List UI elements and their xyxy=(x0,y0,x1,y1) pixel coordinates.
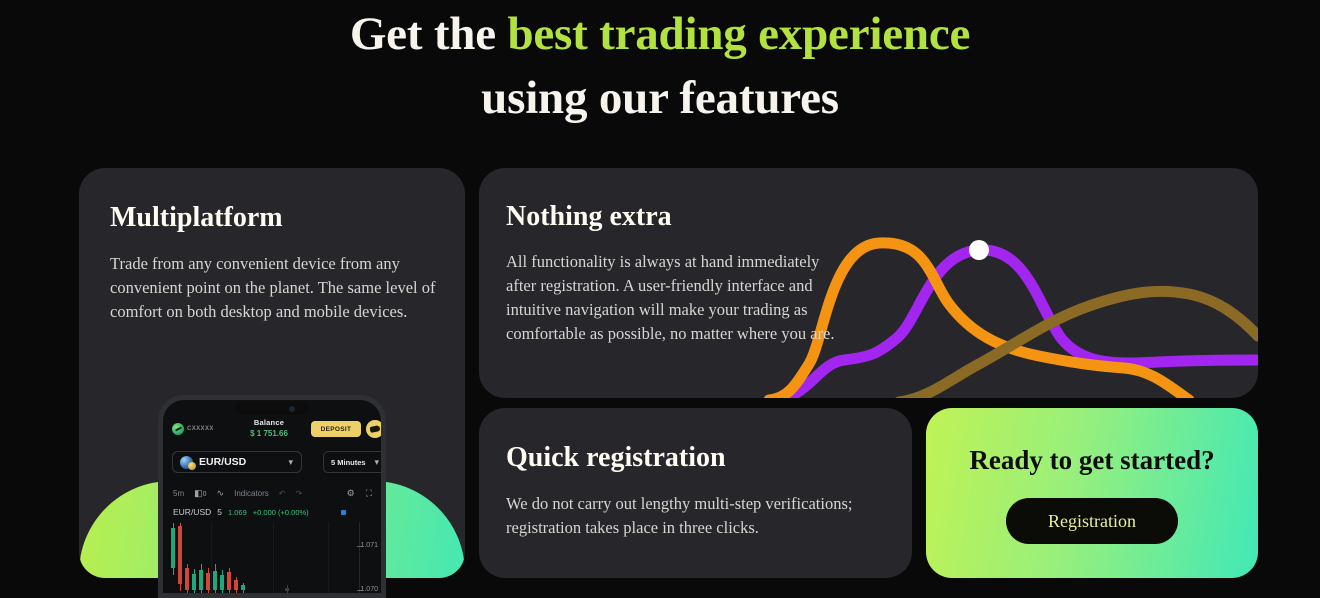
grid-line xyxy=(273,522,274,594)
broker-logo: CXXXXX xyxy=(172,423,214,435)
timeframe-value: 5 Minutes xyxy=(331,458,366,467)
redo-icon[interactable]: ↷ xyxy=(295,489,302,498)
undo-icon[interactable]: ↶ xyxy=(279,489,286,498)
pair-select-value: EUR/USD xyxy=(199,456,246,468)
balance-value: $ 1 751.66 xyxy=(233,429,305,438)
candle xyxy=(213,571,217,590)
curve-purple xyxy=(779,250,1258,398)
phone-notch xyxy=(236,402,308,415)
grid-line xyxy=(328,522,329,594)
balance-label: Balance xyxy=(233,418,305,427)
candle xyxy=(171,528,175,568)
deposit-button[interactable]: DEPOSIT xyxy=(311,421,361,437)
toolbar-indicators-label[interactable]: Indicators xyxy=(234,489,269,498)
price-axis xyxy=(359,522,360,594)
card-multiplatform-body: Trade from any convenient device from an… xyxy=(110,252,440,324)
chevron-down-icon: ▾ xyxy=(288,458,293,467)
candle xyxy=(206,573,210,590)
candle xyxy=(192,574,196,590)
currency-pair-icon xyxy=(180,456,193,469)
card-quick-registration-title: Quick registration xyxy=(506,442,726,474)
phone-selectors: EUR/USD ▾ 5 Minutes ▾ xyxy=(163,450,381,478)
phone-screen: CXXXXX Balance $ 1 751.66 DEPOSIT xyxy=(163,400,381,593)
candle xyxy=(178,526,182,584)
phone-header: CXXXXX Balance $ 1 751.66 DEPOSIT xyxy=(163,417,381,447)
grid-line xyxy=(211,522,212,594)
candle xyxy=(220,575,224,590)
card-nothing-extra-body: All functionality is always at hand imme… xyxy=(506,250,836,346)
toolbar-interval[interactable]: 5m xyxy=(173,489,184,498)
toolbar-candle-count: 0 xyxy=(203,491,207,498)
card-quick-registration: Quick registration We do not carry out l… xyxy=(479,408,912,578)
page-title: Get the best trading experience using ou… xyxy=(0,2,1320,130)
axis-label-high: 1.071 xyxy=(360,542,378,549)
quote-symbol: EUR/USD xyxy=(173,507,211,517)
headline-accent: best trading experience xyxy=(507,8,970,60)
candlestick-chart: 1.071 1.070 xyxy=(163,522,381,598)
headline-line-1: Get the best trading experience xyxy=(0,2,1320,66)
gear-icon[interactable]: ⚙ xyxy=(347,488,355,499)
card-multiplatform-title: Multiplatform xyxy=(110,202,283,234)
headline-line-2: using our features xyxy=(0,66,1320,130)
logo-text: CXXXXX xyxy=(187,426,214,432)
logo-mark-icon xyxy=(172,423,184,435)
candle xyxy=(199,570,203,590)
candle xyxy=(227,572,231,590)
axis-label-low: 1.070 xyxy=(360,586,378,593)
candle-type-icon[interactable]: ◧0 xyxy=(194,488,206,499)
indicators-icon[interactable]: ∿ xyxy=(217,488,225,499)
candle xyxy=(234,580,238,590)
chart-toolbar: 5m ◧0 ∿ Indicators ↶ ↷ ⚙ ⛶ xyxy=(163,482,381,504)
coin-icon[interactable] xyxy=(366,420,384,438)
quote-change: +0.000 (+0.00%) xyxy=(253,508,309,517)
timeframe-select[interactable]: 5 Minutes ▾ xyxy=(323,451,386,473)
candle xyxy=(185,568,189,590)
card-quick-registration-body: We do not carry out lengthy multi-step v… xyxy=(506,492,886,540)
card-cta-title: Ready to get started? xyxy=(969,444,1214,476)
registration-button[interactable]: Registration xyxy=(1006,498,1178,544)
card-cta: Ready to get started? Registration xyxy=(926,408,1258,578)
curve-marker-dot xyxy=(969,240,989,260)
page-root: Get the best trading experience using ou… xyxy=(0,0,1320,598)
card-nothing-extra-title: Nothing extra xyxy=(506,201,672,233)
candle xyxy=(241,585,245,590)
headline-plain: Get the xyxy=(350,8,508,60)
quote-period: 5 xyxy=(217,507,222,517)
quote-indicator-dot xyxy=(341,510,346,515)
quote-line: EUR/USD 5 1.069 +0.000 (+0.00%) xyxy=(163,504,381,520)
quote-price: 1.069 xyxy=(228,508,247,517)
card-nothing-extra: Nothing extra All functionality is alway… xyxy=(479,168,1258,398)
phone-mockup: CXXXXX Balance $ 1 751.66 DEPOSIT xyxy=(158,395,386,598)
balance-block: Balance $ 1 751.66 xyxy=(233,418,305,438)
chevron-down-icon-2: ▾ xyxy=(374,458,379,467)
candle xyxy=(285,588,289,591)
fullscreen-icon[interactable]: ⛶ xyxy=(366,488,372,499)
pair-select[interactable]: EUR/USD ▾ xyxy=(172,451,302,473)
